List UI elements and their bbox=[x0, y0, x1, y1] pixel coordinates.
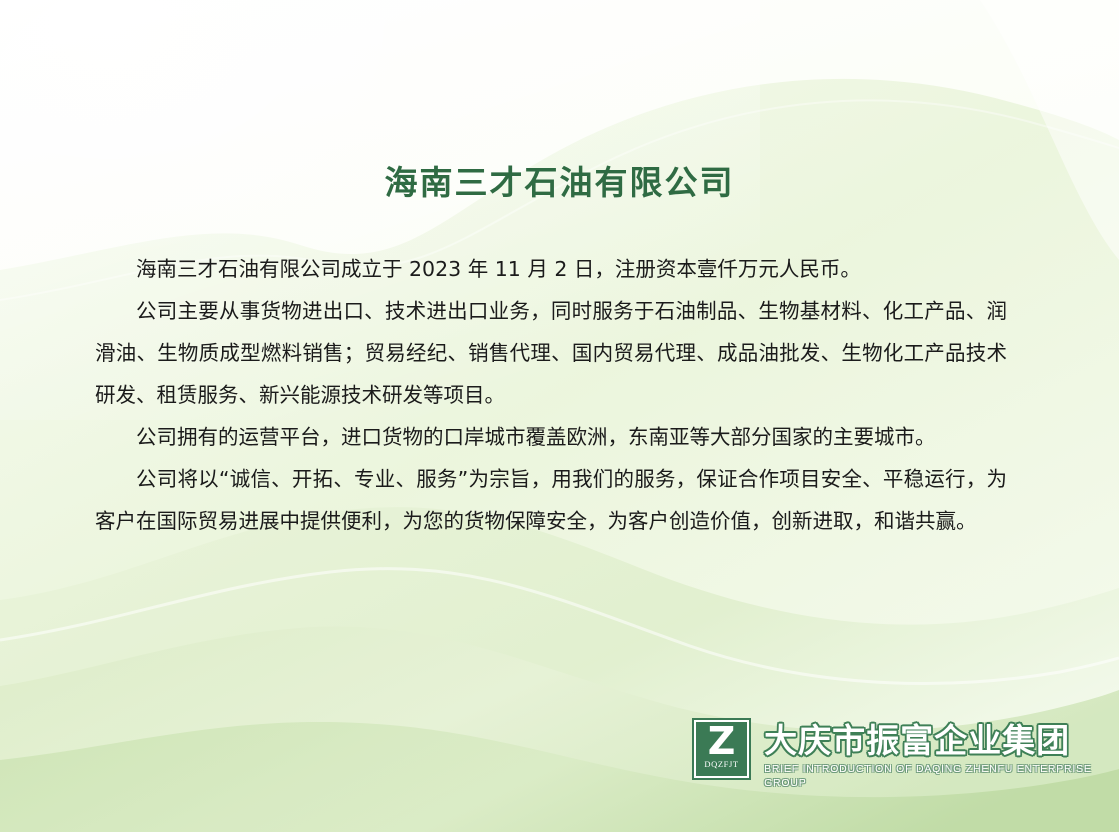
paragraph-4: 公司将以“诚信、开拓、专业、服务”为宗旨，用我们的服务，保证合作项目安全、平稳运… bbox=[95, 458, 1007, 542]
company-logo: Z DQZFJT 大庆市振富企业集团 BRIEF INTRODUCTION OF… bbox=[692, 718, 1119, 790]
paragraph-1: 海南三才石油有限公司成立于 2023 年 11 月 2 日，注册资本壹仟万元人民… bbox=[95, 248, 1007, 290]
page-content: 海南三才石油有限公司 海南三才石油有限公司成立于 2023 年 11 月 2 日… bbox=[0, 0, 1119, 832]
paragraph-3: 公司拥有的运营平台，进口货物的口岸城市覆盖欧洲，东南亚等大部分国家的主要城市。 bbox=[95, 416, 1007, 458]
paragraph-2: 公司主要从事货物进出口、技术进出口业务，同时服务于石油制品、生物基材料、化工产品… bbox=[95, 290, 1007, 416]
logo-z-emblem-icon: Z DQZFJT bbox=[692, 718, 751, 780]
page-title: 海南三才石油有限公司 bbox=[0, 156, 1119, 204]
logo-letter: Z bbox=[708, 723, 736, 759]
logo-name-en: BRIEF INTRODUCTION OF DAQING ZHENFU ENTE… bbox=[764, 762, 1119, 790]
logo-wordmark: 大庆市振富企业集团 BRIEF INTRODUCTION OF DAQING Z… bbox=[764, 718, 1119, 790]
logo-abbreviation: DQZFJT bbox=[704, 759, 738, 769]
body-text: 海南三才石油有限公司成立于 2023 年 11 月 2 日，注册资本壹仟万元人民… bbox=[95, 248, 1007, 542]
slide-page: 海南三才石油有限公司 海南三才石油有限公司成立于 2023 年 11 月 2 日… bbox=[0, 0, 1119, 832]
logo-name-cn: 大庆市振富企业集团 bbox=[764, 722, 1119, 760]
